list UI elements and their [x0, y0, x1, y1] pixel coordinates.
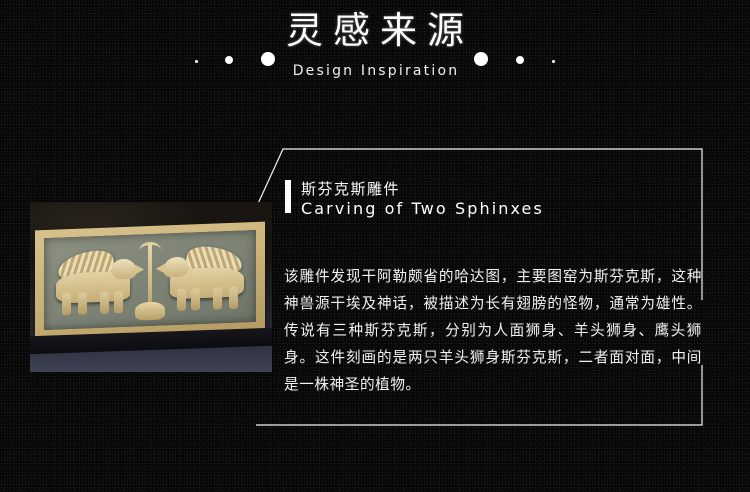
sphinx-beak: [156, 263, 165, 273]
ivory-carving-slab: [35, 222, 265, 341]
sphinx-head: [112, 259, 136, 280]
heading-accent-bar: [285, 180, 291, 213]
plant-stem: [148, 244, 152, 306]
sphinx-figure-left: [52, 240, 138, 319]
sphinx-leg: [78, 292, 87, 314]
sphinx-figure-right: [162, 236, 248, 315]
sphinx-leg: [191, 288, 200, 310]
page-title: 灵感来源: [0, 8, 750, 54]
sphinx-head: [164, 257, 188, 278]
sphinx-leg: [100, 292, 109, 314]
artifact-description: 该雕件发现干阿勒颇省的哈达图，主要图窑为斯芬克斯，这种神兽源干埃及神话，被描述为…: [284, 263, 702, 398]
sphinx-leg: [177, 289, 186, 311]
carving-recessed-panel: [44, 230, 256, 330]
sphinx-leg: [62, 293, 71, 315]
sacred-plant-motif: [139, 242, 161, 321]
page-header: 灵感来源 Design Inspiration: [0, 0, 750, 100]
page-subtitle: Design Inspiration: [0, 63, 750, 79]
artifact-title-en: Carving of Two Sphinxes: [301, 199, 544, 218]
sphinx-leg: [114, 291, 123, 313]
inspiration-page: 灵感来源 Design Inspiration: [0, 0, 750, 492]
artifact-title-cn: 斯芬克斯雕件: [301, 178, 400, 199]
sphinx-leg: [229, 287, 238, 309]
artifact-photo: [30, 202, 272, 372]
plant-base: [135, 301, 165, 320]
sphinx-leg: [213, 287, 222, 309]
